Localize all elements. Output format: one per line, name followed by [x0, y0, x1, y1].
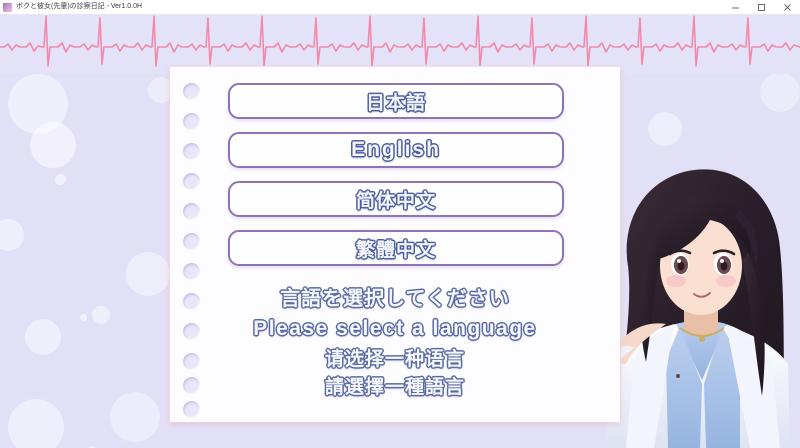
character-portrait: [590, 148, 800, 448]
prompt-simplified-chinese: 请选择一种语言: [206, 350, 584, 369]
language-button-simplified-chinese-label: 简体中文: [230, 183, 562, 215]
prompt-block: 言語を選択してください Please select a language 请选择…: [206, 289, 584, 397]
minimize-icon[interactable]: [722, 0, 748, 14]
prompt-japanese: 言語を選択してください: [206, 289, 584, 309]
language-button-english-label: English: [230, 134, 562, 166]
app-icon: [3, 3, 12, 12]
language-button-traditional-chinese-label: 繁體中文: [230, 232, 562, 264]
language-button-japanese[interactable]: 日本語: [228, 83, 564, 119]
language-button-english[interactable]: English: [228, 132, 564, 168]
language-select-panel: 日本語 English 简体中文 繁體中文 言語を選択してください Please…: [170, 67, 620, 422]
ecg-waveform: [0, 14, 800, 74]
window-title: ボクと彼女(先輩)の診察日記 - Ver1.0.0H: [16, 0, 142, 14]
language-button-traditional-chinese[interactable]: 繁體中文: [228, 230, 564, 266]
game-window: ボクと彼女(先輩)の診察日記 - Ver1.0.0H: [0, 0, 800, 448]
title-bar: ボクと彼女(先輩)の診察日記 - Ver1.0.0H: [0, 0, 800, 15]
prompt-traditional-chinese: 請選擇一種語言: [206, 378, 584, 397]
language-button-japanese-label: 日本語: [230, 85, 562, 117]
close-icon[interactable]: [774, 0, 800, 14]
language-button-simplified-chinese[interactable]: 简体中文: [228, 181, 564, 217]
maximize-icon[interactable]: [748, 0, 774, 14]
prompt-english: Please select a language: [206, 318, 584, 339]
language-button-list: 日本語 English 简体中文 繁體中文: [228, 83, 568, 279]
window-controls: [722, 0, 800, 14]
